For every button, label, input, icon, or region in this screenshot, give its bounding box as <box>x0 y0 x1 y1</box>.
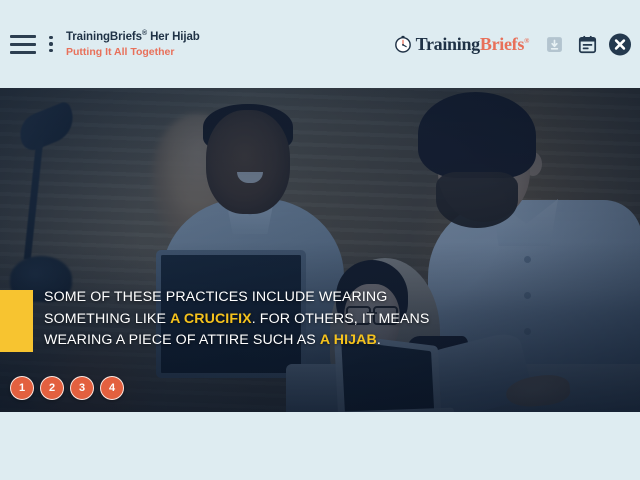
brand-logo: TrainingBriefs® <box>393 34 529 54</box>
caption-highlight: A HIJAB <box>320 332 377 348</box>
download-icon[interactable] <box>542 32 566 56</box>
pagination-dot-2[interactable]: 2 <box>40 376 64 400</box>
hamburger-line <box>10 43 36 46</box>
caption-accent-bar <box>0 290 33 352</box>
caption-highlight: A CRUCIFIX <box>170 311 252 327</box>
scene-photo <box>0 88 640 412</box>
player-header: TrainingBriefs® Her Hijab Putting It All… <box>0 0 640 88</box>
header-left-group: TrainingBriefs® Her Hijab Putting It All… <box>0 0 200 88</box>
pagination-dot-4[interactable]: 4 <box>100 376 124 400</box>
caption-segment: . <box>377 332 381 348</box>
kebab-menu-icon[interactable] <box>44 33 58 55</box>
hamburger-menu-icon[interactable] <box>10 34 36 54</box>
kebab-dot <box>49 36 53 40</box>
pagination-dot-3[interactable]: 3 <box>70 376 94 400</box>
close-glyph <box>608 32 632 57</box>
notes-icon[interactable] <box>575 32 599 56</box>
download-glyph <box>544 34 565 55</box>
brand-registered: ® <box>524 37 529 45</box>
hamburger-line <box>10 51 36 54</box>
course-subtitle: Putting It All Together <box>66 46 200 58</box>
course-title: TrainingBriefs® Her Hijab <box>66 30 200 44</box>
brand-wordmark: TrainingBriefs® <box>416 35 529 53</box>
pagination-controls: 1234 <box>10 376 124 400</box>
kebab-dot <box>49 49 53 53</box>
notes-glyph <box>577 34 598 55</box>
close-icon[interactable] <box>608 32 632 56</box>
course-player-window: TrainingBriefs® Her Hijab Putting It All… <box>0 0 640 480</box>
course-title-brand: TrainingBriefs <box>66 31 142 43</box>
brand-part2: Briefs <box>480 34 524 54</box>
pagination-dot-1[interactable]: 1 <box>10 376 34 400</box>
course-title-block: TrainingBriefs® Her Hijab Putting It All… <box>66 30 200 58</box>
stopwatch-icon <box>393 34 413 54</box>
course-title-rest: Her Hijab <box>147 31 200 43</box>
player-footer <box>0 412 640 480</box>
caption-text: SOME OF THESE PRACTICES INCLUDE WEARING … <box>44 287 444 352</box>
kebab-dot <box>49 42 53 46</box>
video-stage[interactable]: SOME OF THESE PRACTICES INCLUDE WEARING … <box>0 88 640 412</box>
brand-part1: Training <box>416 34 480 54</box>
hamburger-line <box>10 35 36 38</box>
header-right-group: TrainingBriefs® <box>393 0 632 88</box>
